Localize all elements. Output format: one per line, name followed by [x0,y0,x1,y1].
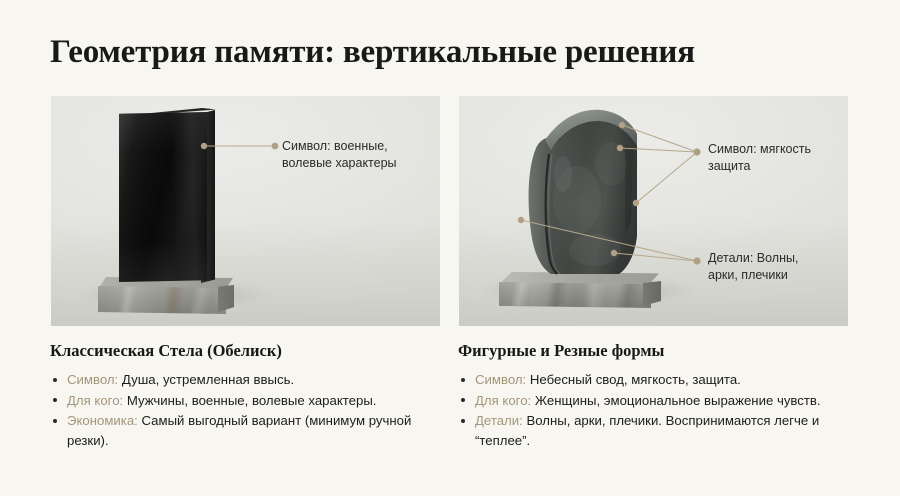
bullet-dot-icon [461,378,465,382]
bullet-text: Волны, арки, плечики. Воспринимаются лег… [475,413,819,448]
bullet-text: Душа, устремленная ввысь. [118,372,294,387]
bullet-label: Экономика: [67,413,138,428]
bullet-dot-icon [53,419,57,423]
bullet-dot-icon [461,419,465,423]
bullet-text: Женщины, эмоциональное выражение чувств. [531,393,820,408]
list-item: Для кого: Женщины, эмоциональное выражен… [458,391,868,411]
callout-right-details: Детали: Волны, арки, плечики [708,250,798,284]
column-classic: Классическая Стела (Обелиск) Символ: Душ… [50,341,442,451]
bullet-label: Для кого: [475,393,531,408]
list-item: Символ: Душа, устремленная ввысь. [50,370,442,390]
list-item: Детали: Волны, арки, плечики. Воспринима… [458,411,868,450]
pedestal-front-face [98,286,226,314]
image-panel-classic-stele: Символ: военные, волевые характеры [51,96,440,326]
list-item: Экономика: Самый выгодный вариант (миним… [50,411,442,450]
bullet-dot-icon [53,378,57,382]
bullet-text: Мужчины, военные, волевые характеры. [123,393,376,408]
bullet-dot-icon [53,398,57,402]
list-item: Для кого: Мужчины, военные, волевые хара… [50,391,442,411]
carved-monument-silhouette [515,104,645,278]
column-heading-classic: Классическая Стела (Обелиск) [50,341,442,361]
stele-front-face [119,112,207,282]
bullet-text: Небесный свод, мягкость, защита. [526,372,741,387]
bullet-list-figured: Символ: Небесный свод, мягкость, защита.… [458,370,868,450]
carved-monument-body [515,104,645,278]
pedestal-front-face [499,282,651,308]
page-title: Геометрия памяти: вертикальные решения [50,32,695,72]
bullet-label: Символ: [67,372,118,387]
image-panel-figured-carved: Символ: мягкость защита Детали: Волны, а… [459,96,848,326]
callout-left-symbol: Символ: военные, волевые характеры [282,138,397,172]
column-figured: Фигурные и Резные формы Символ: Небесный… [458,341,868,451]
list-item: Символ: Небесный свод, мягкость, защита. [458,370,868,390]
bullet-list-classic: Символ: Душа, устремленная ввысь. Для ко… [50,370,442,450]
callout-right-symbol: Символ: мягкость защита [708,141,811,175]
bullet-label: Символ: [475,372,526,387]
column-heading-figured: Фигурные и Резные формы [458,341,868,361]
bullet-label: Детали: [475,413,523,428]
bullet-label: Для кого: [67,393,123,408]
bullet-dot-icon [461,398,465,402]
slide-root: Геометрия памяти: вертикальные решения С… [0,0,900,496]
